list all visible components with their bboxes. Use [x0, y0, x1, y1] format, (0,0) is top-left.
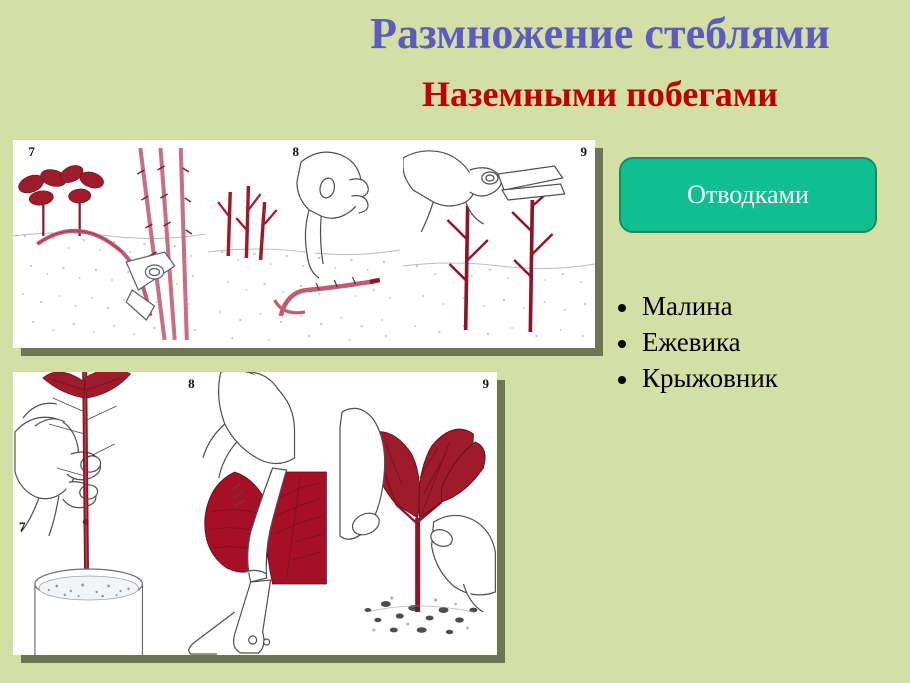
list-item: Ежевика	[612, 324, 902, 360]
list-item: Малина	[612, 288, 902, 324]
panel-number: 9	[581, 144, 588, 160]
figure-panels: 7	[13, 140, 595, 348]
list-item: Крыжовник	[612, 360, 902, 396]
figure-panel-8: 8	[175, 372, 334, 655]
layering-step-8-illustration	[208, 140, 400, 348]
cutting-step-8-illustration	[175, 372, 334, 655]
panel-number: 7	[28, 144, 35, 160]
figure-panels: 7	[13, 372, 497, 655]
cutting-step-9-illustration	[338, 372, 497, 655]
callout-otvodkami[interactable]: Отводками	[619, 157, 877, 233]
cutting-step-7-illustration	[13, 372, 172, 655]
figure-panel-9: 9	[403, 140, 595, 348]
layering-step-9-illustration	[403, 140, 595, 348]
figure-panel-8: 8	[208, 140, 400, 348]
layering-step-7-illustration	[13, 140, 205, 348]
figure-panel-7: 7	[13, 140, 205, 348]
figure-panel-9: 9	[338, 372, 497, 655]
panel-number: 8	[188, 376, 195, 392]
plant-list: Малина Ежевика Крыжовник	[612, 288, 902, 397]
figure-layering-sequence: 7	[13, 140, 595, 348]
callout-label: Отводками	[687, 180, 809, 210]
panel-number: 9	[482, 376, 489, 392]
page-title: Размножение стеблями	[300, 10, 900, 58]
slide-canvas: Размножение стеблями Наземными побегами …	[0, 0, 910, 683]
figure-cutting-sequence: 7	[13, 372, 497, 655]
figure-panel-7: 7	[13, 372, 172, 655]
panel-number: 7	[19, 519, 26, 535]
page-subtitle: Наземными побегами	[300, 75, 900, 115]
panel-number: 8	[292, 144, 299, 160]
